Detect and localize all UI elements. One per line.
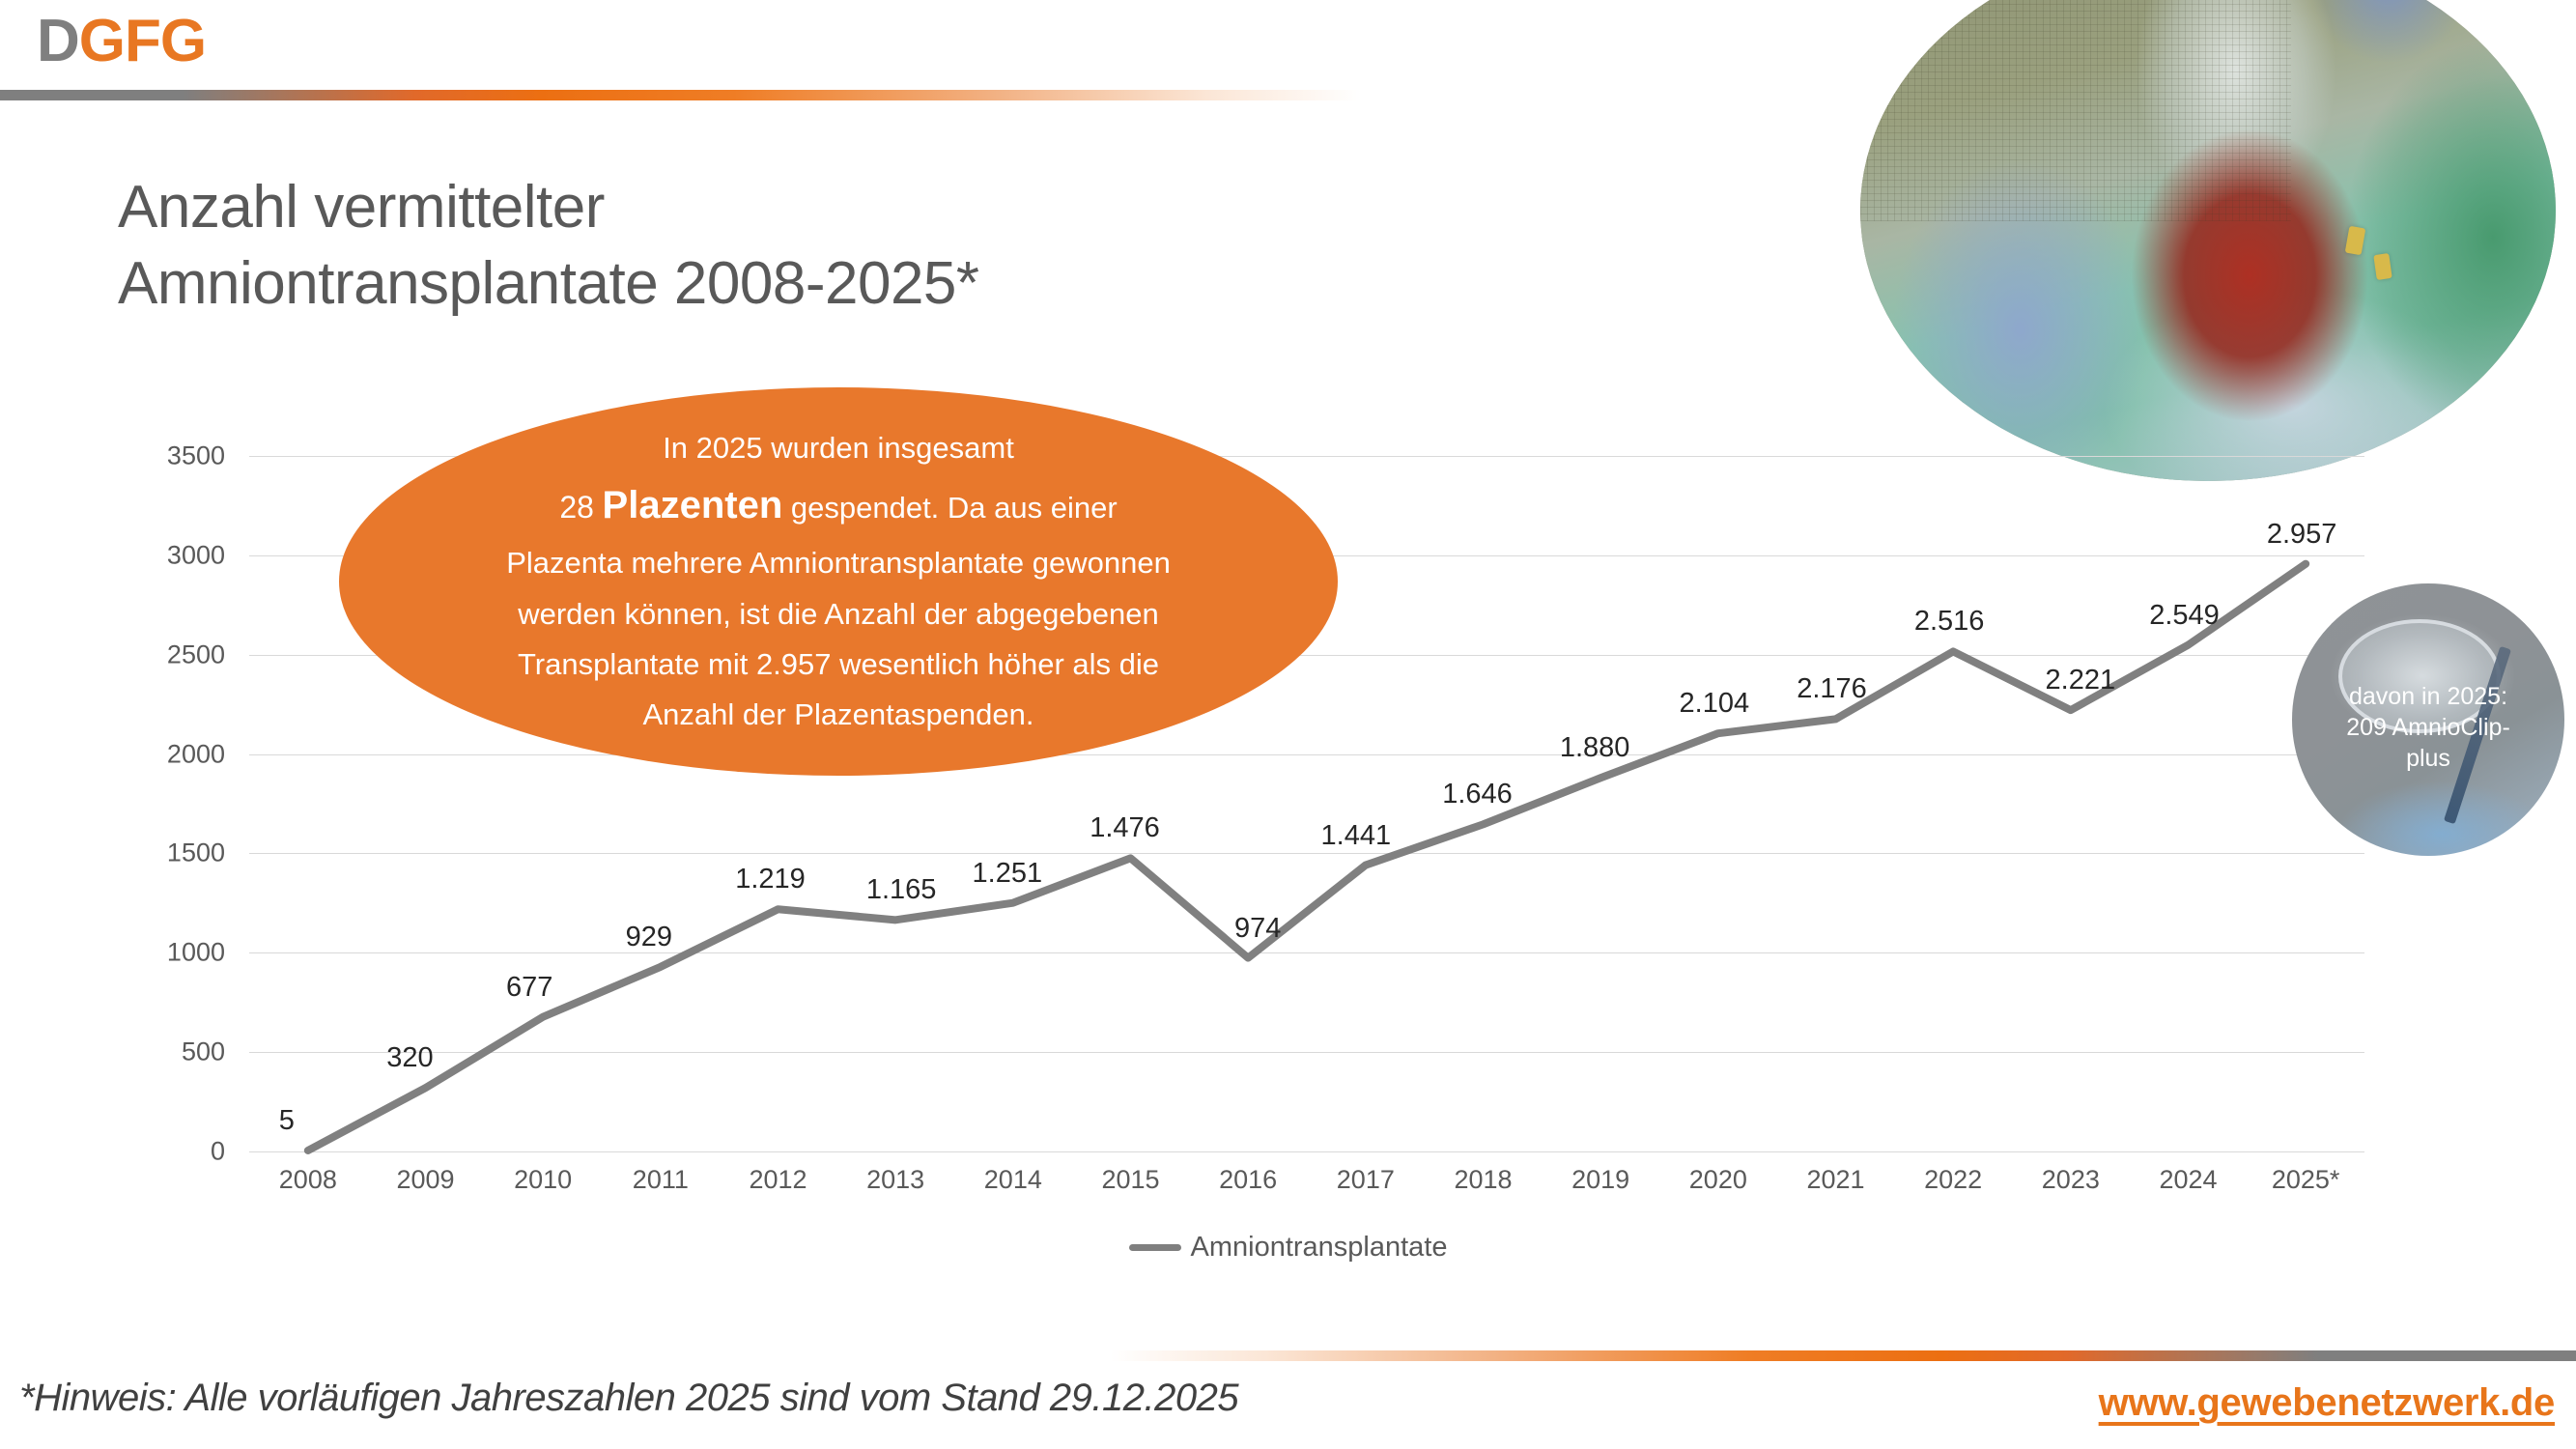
- page-title: Anzahl vermittelter Amniontransplantate …: [118, 169, 1373, 323]
- data-point-label: 2.549: [2149, 600, 2220, 632]
- amnioclip-callout-circle: davon in 2025: 209 AmnioClip- plus: [2292, 583, 2564, 856]
- x-axis-tick-label: 2016: [1219, 1165, 1277, 1195]
- data-point-label: 1.219: [735, 864, 806, 895]
- data-point-label: 1.880: [1560, 732, 1630, 764]
- data-point-label: 2.957: [2267, 519, 2337, 551]
- amnioclip-callout-text: davon in 2025: 209 AmnioClip- plus: [2327, 681, 2530, 774]
- data-point-label: 929: [626, 922, 672, 953]
- x-axis-tick-label: 2022: [1924, 1165, 1982, 1195]
- page-title-line-1: Anzahl vermittelter: [118, 169, 1373, 245]
- x-axis-tick-label: 2011: [633, 1165, 689, 1195]
- footer-divider-rule: [1111, 1350, 2576, 1361]
- data-point-label: 5: [279, 1105, 295, 1137]
- x-axis-tick-label: 2017: [1337, 1165, 1395, 1195]
- amnioclip-line-2: 209 AmnioClip-: [2327, 712, 2530, 743]
- page-title-line-2: Amniontransplantate 2008-2025*: [118, 245, 1373, 322]
- x-axis-tick-label: 2019: [1571, 1165, 1629, 1195]
- x-axis-tick-label: 2020: [1689, 1165, 1747, 1195]
- legend-line-swatch: [1129, 1244, 1181, 1251]
- x-axis-tick-label: 2015: [1101, 1165, 1159, 1195]
- data-point-label: 1.646: [1442, 779, 1513, 810]
- gridline: [249, 1151, 2364, 1152]
- data-point-label: 2.104: [1680, 688, 1750, 720]
- y-axis-tick-label: 0: [109, 1137, 225, 1167]
- x-axis-tick-label: 2021: [1806, 1165, 1864, 1195]
- data-point-label: 974: [1234, 913, 1281, 945]
- data-point-label: 1.476: [1090, 812, 1160, 844]
- y-axis-tick-label: 2500: [109, 639, 225, 669]
- x-axis-tick-label: 2009: [396, 1165, 454, 1195]
- x-axis-tick-label: 2018: [1454, 1165, 1512, 1195]
- y-axis-tick-label: 2000: [109, 739, 225, 769]
- callout-rest-text: gespendet. Da aus einer Plazenta mehrere…: [506, 491, 1171, 730]
- gridline: [249, 952, 2364, 953]
- amnion-preparation-photo: [1860, 0, 2556, 481]
- logo-letter-d: D: [37, 8, 79, 74]
- y-axis-tick-label: 3000: [109, 540, 225, 570]
- data-point-label: 2.221: [2046, 665, 2116, 696]
- photo-mesh-texture: [1860, 0, 2291, 221]
- data-point-label: 2.176: [1797, 673, 1867, 705]
- plazenten-callout-text: In 2025 wurden insgesamt 28 Plazenten ge…: [500, 423, 1176, 740]
- legend-label-amniontransplantate: Amniontransplantate: [1191, 1232, 1448, 1264]
- data-point-label: 1.165: [866, 874, 937, 906]
- amnioclip-line-1: davon in 2025:: [2327, 681, 2530, 712]
- data-point-label: 1.441: [1321, 820, 1392, 852]
- x-axis-tick-label: 2024: [2159, 1165, 2217, 1195]
- callout-bold-word: Plazenten: [603, 484, 783, 526]
- data-point-label: 2.516: [1914, 606, 1985, 638]
- amnioclip-line-3: plus: [2327, 743, 2530, 774]
- callout-line-1: In 2025 wurden insgesamt: [663, 431, 1014, 465]
- y-axis-tick-label: 1000: [109, 938, 225, 968]
- x-axis-tick-label: 2013: [866, 1165, 924, 1195]
- dgfg-logo: DGFG: [37, 12, 206, 71]
- gridline: [249, 754, 2364, 755]
- x-axis-tick-label: 2012: [749, 1165, 807, 1195]
- x-axis-tick-label: 2025*: [2272, 1165, 2340, 1195]
- website-url-link[interactable]: www.gewebenetzwerk.de: [2099, 1381, 2555, 1425]
- x-axis-tick-label: 2008: [279, 1165, 337, 1195]
- callout-number-28: 28: [559, 490, 594, 525]
- gridline: [249, 1052, 2364, 1053]
- chart-legend: Amniontransplantate: [0, 1232, 2576, 1264]
- data-point-label: 677: [506, 972, 552, 1004]
- logo-letters-gfg: GFG: [79, 8, 206, 74]
- x-axis-tick-label: 2014: [984, 1165, 1042, 1195]
- y-axis-tick-label: 3500: [109, 441, 225, 471]
- y-axis-tick-label: 500: [109, 1037, 225, 1067]
- photo-yellow-marker-2: [2373, 253, 2392, 280]
- plazenten-callout-ellipse: In 2025 wurden insgesamt 28 Plazenten ge…: [339, 387, 1338, 776]
- x-axis-tick-label: 2010: [514, 1165, 572, 1195]
- x-axis-tick-label: 2023: [2042, 1165, 2100, 1195]
- footnote-text: *Hinweis: Alle vorläufigen Jahreszahlen …: [19, 1377, 1238, 1420]
- gridline: [249, 853, 2364, 854]
- y-axis-tick-label: 1500: [109, 838, 225, 868]
- header-divider-rule: [0, 90, 1507, 100]
- data-point-label: 1.251: [973, 858, 1043, 890]
- data-point-label: 320: [386, 1042, 433, 1074]
